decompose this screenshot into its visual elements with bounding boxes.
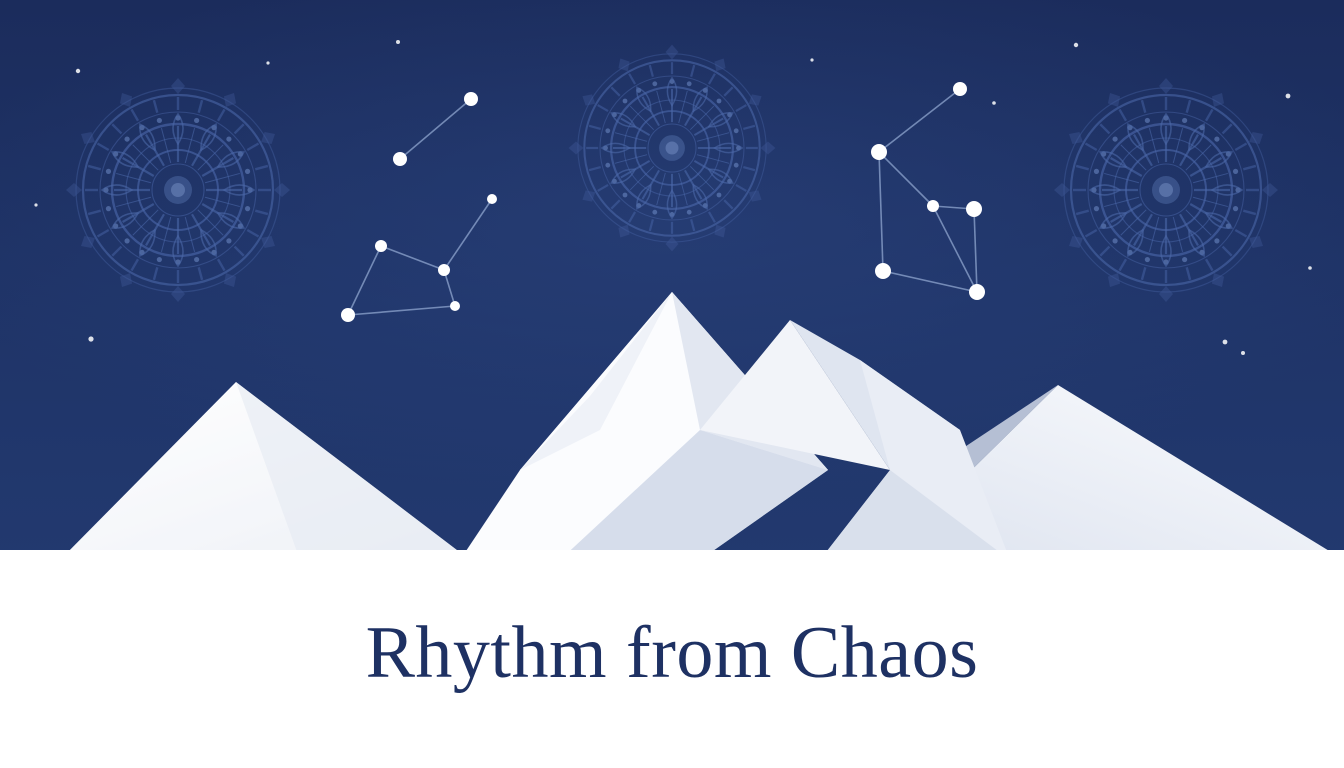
constellation-line bbox=[879, 89, 960, 152]
constellation-star-3 bbox=[966, 201, 982, 217]
poster-image: Rhythm from Chaos bbox=[0, 0, 1344, 768]
constellation-star-2 bbox=[487, 194, 497, 204]
constellation-line bbox=[400, 99, 471, 159]
constellation-star-4 bbox=[438, 264, 450, 276]
star-11 bbox=[34, 203, 37, 206]
constellation-line bbox=[381, 246, 444, 270]
constellation-group bbox=[341, 82, 985, 322]
constellation-line bbox=[444, 199, 492, 270]
constellation-star-3 bbox=[375, 240, 387, 252]
constellation-star-4 bbox=[875, 263, 891, 279]
star-4 bbox=[88, 336, 93, 341]
constellation-star-6 bbox=[341, 308, 355, 322]
page-title: Rhythm from Chaos bbox=[366, 616, 979, 690]
mandala-group bbox=[66, 45, 1278, 302]
constellation-star-5 bbox=[450, 301, 460, 311]
constellation-star-0 bbox=[953, 82, 967, 96]
constellation-star-2 bbox=[927, 200, 939, 212]
constellation-line bbox=[879, 152, 883, 271]
constellation-right bbox=[871, 82, 985, 300]
mandala-left bbox=[66, 78, 290, 302]
caption-band: Rhythm from Chaos bbox=[0, 550, 1344, 768]
constellation-left bbox=[341, 92, 497, 322]
star-9 bbox=[810, 58, 813, 61]
constellation-line bbox=[348, 306, 455, 315]
constellation-line bbox=[974, 209, 977, 292]
constellation-star-1 bbox=[393, 152, 407, 166]
constellation-line bbox=[348, 246, 381, 315]
star-7 bbox=[992, 101, 996, 105]
star-0 bbox=[76, 69, 80, 73]
star-10 bbox=[1308, 266, 1312, 270]
mandala-right bbox=[1054, 78, 1278, 302]
star-3 bbox=[1286, 94, 1291, 99]
constellation-line bbox=[879, 152, 933, 206]
star-2 bbox=[1074, 43, 1078, 47]
star-1 bbox=[396, 40, 400, 44]
star-8 bbox=[266, 61, 269, 64]
constellation-line bbox=[933, 206, 977, 292]
constellation-star-1 bbox=[871, 144, 887, 160]
star-5 bbox=[1223, 340, 1228, 345]
constellation-star-5 bbox=[969, 284, 985, 300]
mandala-center bbox=[569, 45, 776, 252]
constellation-line bbox=[883, 271, 977, 292]
constellation-star-0 bbox=[464, 92, 478, 106]
star-6 bbox=[1241, 351, 1245, 355]
